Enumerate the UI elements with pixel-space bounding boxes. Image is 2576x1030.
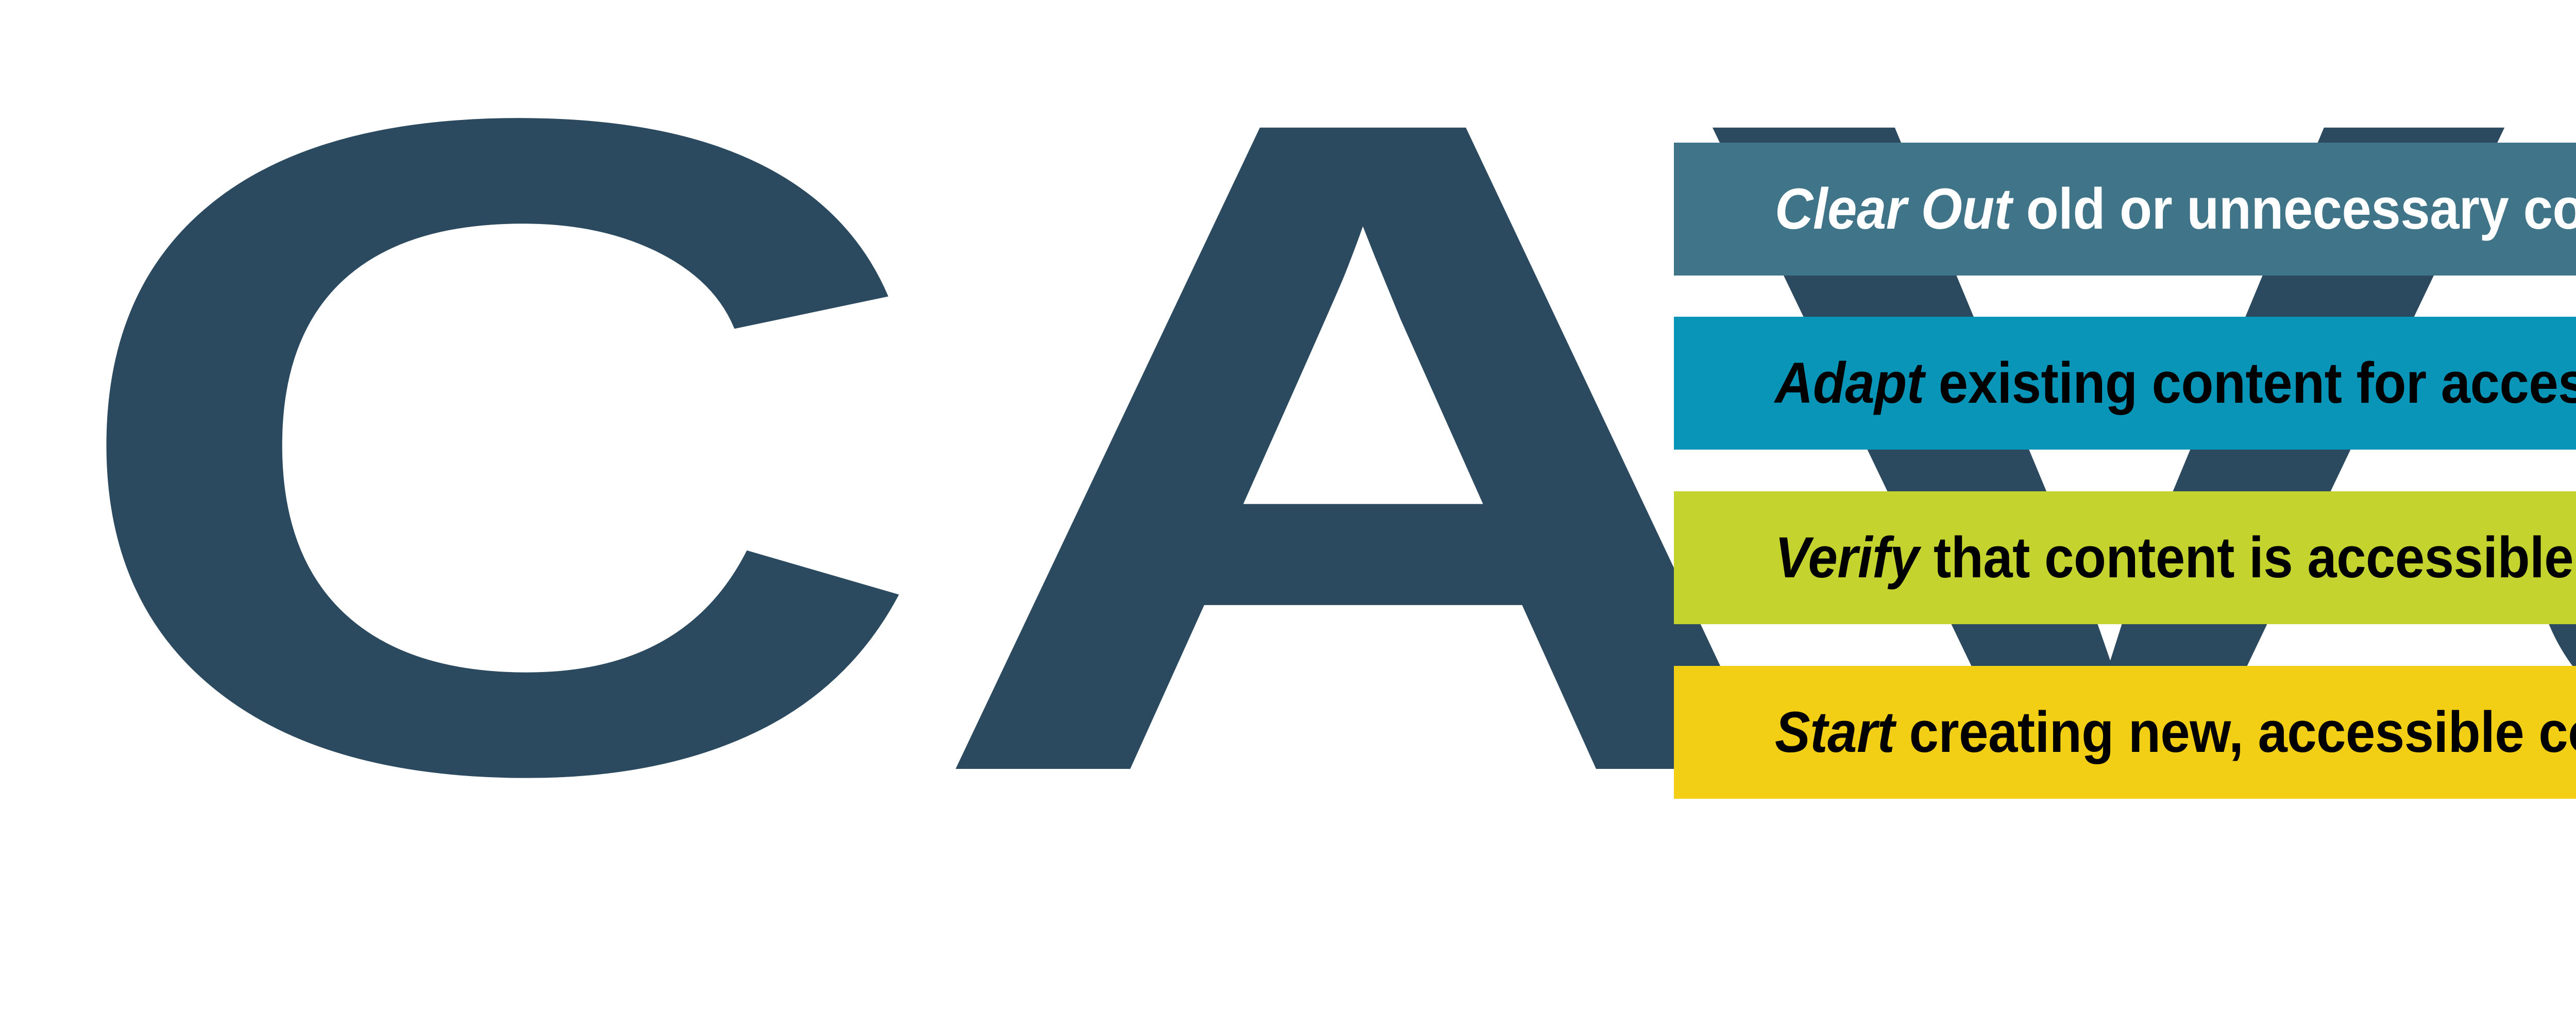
statement-bar-rest: old or unnecessary content. (2012, 177, 2576, 241)
statement-bar-text: Adapt existing content for accessibility… (1775, 354, 2576, 412)
statement-bar-clear-out: Clear Out old or unnecessary content. (1674, 143, 2576, 276)
statement-bar-verify: Verify that content is accessible. (1674, 491, 2576, 624)
statement-bar-lead: Adapt (1775, 351, 1924, 415)
statement-bar-text: Clear Out old or unnecessary content. (1775, 180, 2576, 238)
statement-bar-lead: Verify (1775, 525, 1919, 590)
statement-bar-list: Clear Out old or unnecessary content. Ad… (1674, 143, 2576, 789)
statement-bar-rest: creating new, accessible content. (1894, 700, 2576, 764)
statement-bar-rest: existing content for accessibility. (1924, 351, 2576, 415)
statement-bar-text: Verify that content is accessible. (1775, 529, 2576, 587)
acronym-block: CAVS (57, 82, 1669, 814)
statement-bar-rest: that content is accessible. (1919, 525, 2576, 590)
statement-bar-lead: Start (1775, 700, 1894, 764)
statement-bar-adapt: Adapt existing content for accessibility… (1674, 317, 2576, 450)
cavs-accessibility-graphic: CAVS Clear Out old or unnecessary conten… (0, 0, 2576, 1030)
statement-bar-lead: Clear Out (1775, 177, 2012, 241)
statement-bar-start: Start creating new, accessible content. (1674, 666, 2576, 799)
statement-bar-text: Start creating new, accessible content. (1775, 703, 2576, 761)
